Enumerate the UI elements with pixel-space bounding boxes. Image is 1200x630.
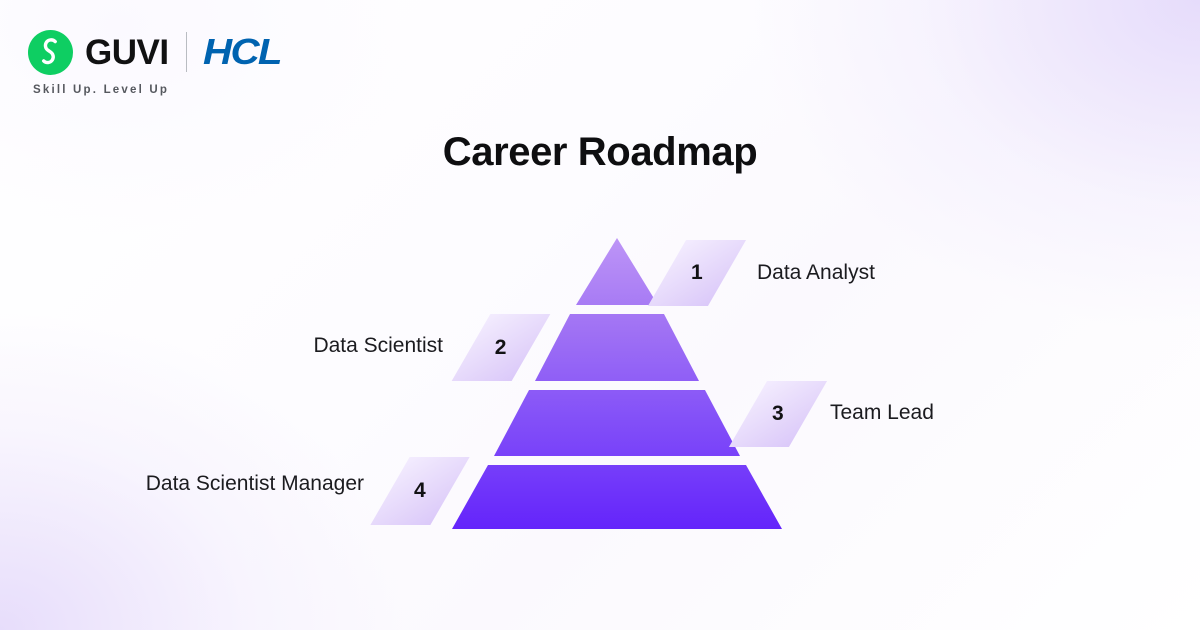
pyramid-tier-1 bbox=[576, 238, 658, 305]
pyramid-badge-2-number: 2 bbox=[495, 336, 507, 360]
pyramid-label-3: Team Lead bbox=[830, 401, 934, 425]
pyramid-diagram: 1 2 3 4 Data Analyst Data Scientist Team… bbox=[0, 0, 1200, 630]
career-roadmap-infographic: GUVI HCL Skill Up. Level Up Career Roadm… bbox=[0, 0, 1200, 630]
pyramid-label-2: Data Scientist bbox=[313, 334, 443, 358]
pyramid-tier-3 bbox=[494, 390, 740, 456]
pyramid-tier-4 bbox=[452, 465, 782, 529]
pyramid-tier-2 bbox=[535, 314, 699, 381]
pyramid-badge-1-number: 1 bbox=[691, 261, 703, 285]
pyramid-badge-3-number: 3 bbox=[772, 402, 784, 426]
pyramid-label-1: Data Analyst bbox=[757, 261, 875, 285]
pyramid-label-4: Data Scientist Manager bbox=[146, 472, 364, 496]
pyramid-badge-4-number: 4 bbox=[414, 479, 426, 503]
